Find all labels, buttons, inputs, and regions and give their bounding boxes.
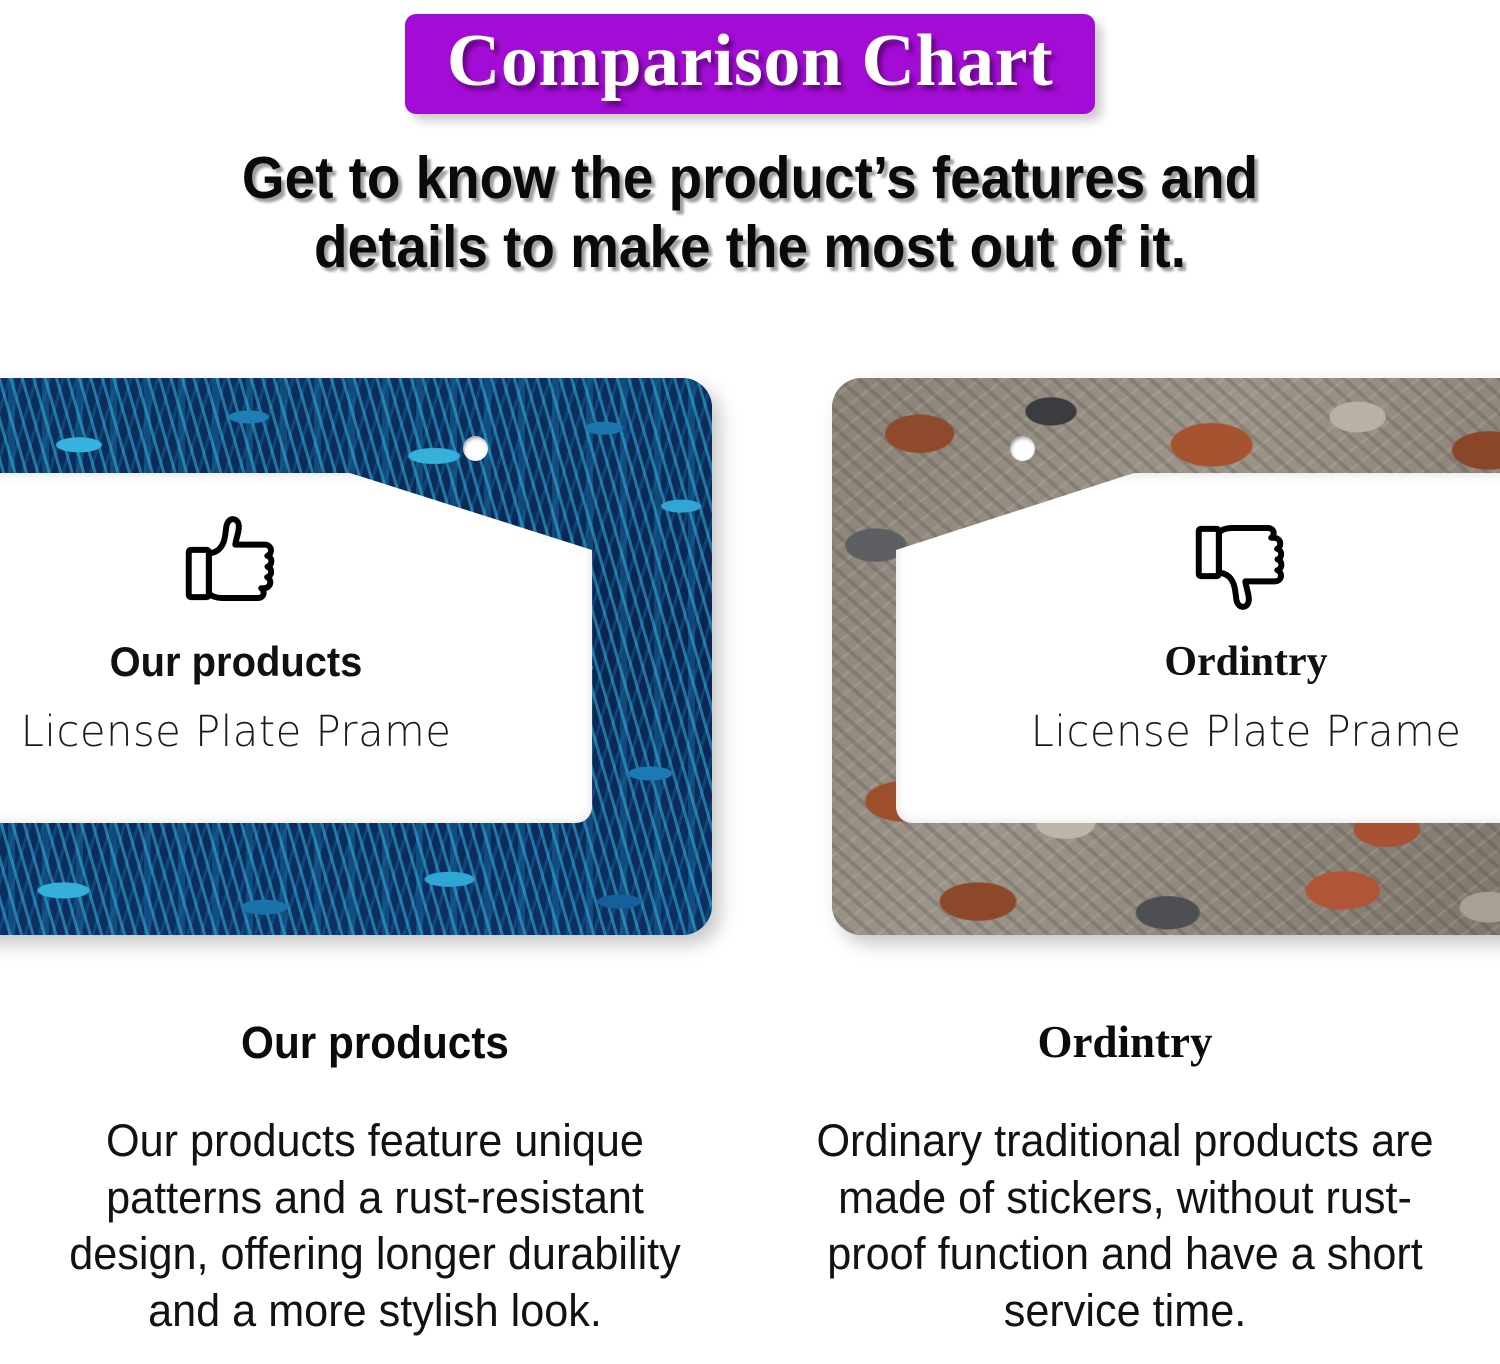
ordinary-product-plate-frame: Ordintry License Plate Prame (832, 378, 1500, 935)
screw-hole-icon (1010, 436, 1035, 461)
page-title: Comparison Chart (447, 22, 1053, 100)
comparison-panels: Our products License Plate Prame Ordintr… (0, 378, 1500, 938)
our-product-detail-heading: Our products (60, 1020, 690, 1065)
our-product-plate-frame: Our products License Plate Prame (0, 378, 712, 935)
comparison-details: Our products Our products feature unique… (0, 1020, 1500, 1364)
ordinary-product-detail-column: Ordintry Ordinary traditional products a… (750, 1020, 1500, 1364)
ordinary-product-detail-body: Ordinary traditional products are made o… (803, 1113, 1446, 1340)
page-subtitle: Get to know the product’s features and d… (169, 144, 1332, 281)
our-product-detail-column: Our products Our products feature unique… (0, 1020, 750, 1364)
title-badge: Comparison Chart (405, 14, 1095, 114)
ordinary-product-detail-heading: Ordintry (790, 1020, 1460, 1065)
screw-hole-icon (463, 436, 488, 461)
page-header: Comparison Chart Get to know the product… (0, 0, 1500, 281)
plate-aperture-right (896, 473, 1500, 823)
our-product-detail-body: Our products feature unique patterns and… (53, 1113, 696, 1340)
plate-aperture-left (0, 473, 592, 823)
